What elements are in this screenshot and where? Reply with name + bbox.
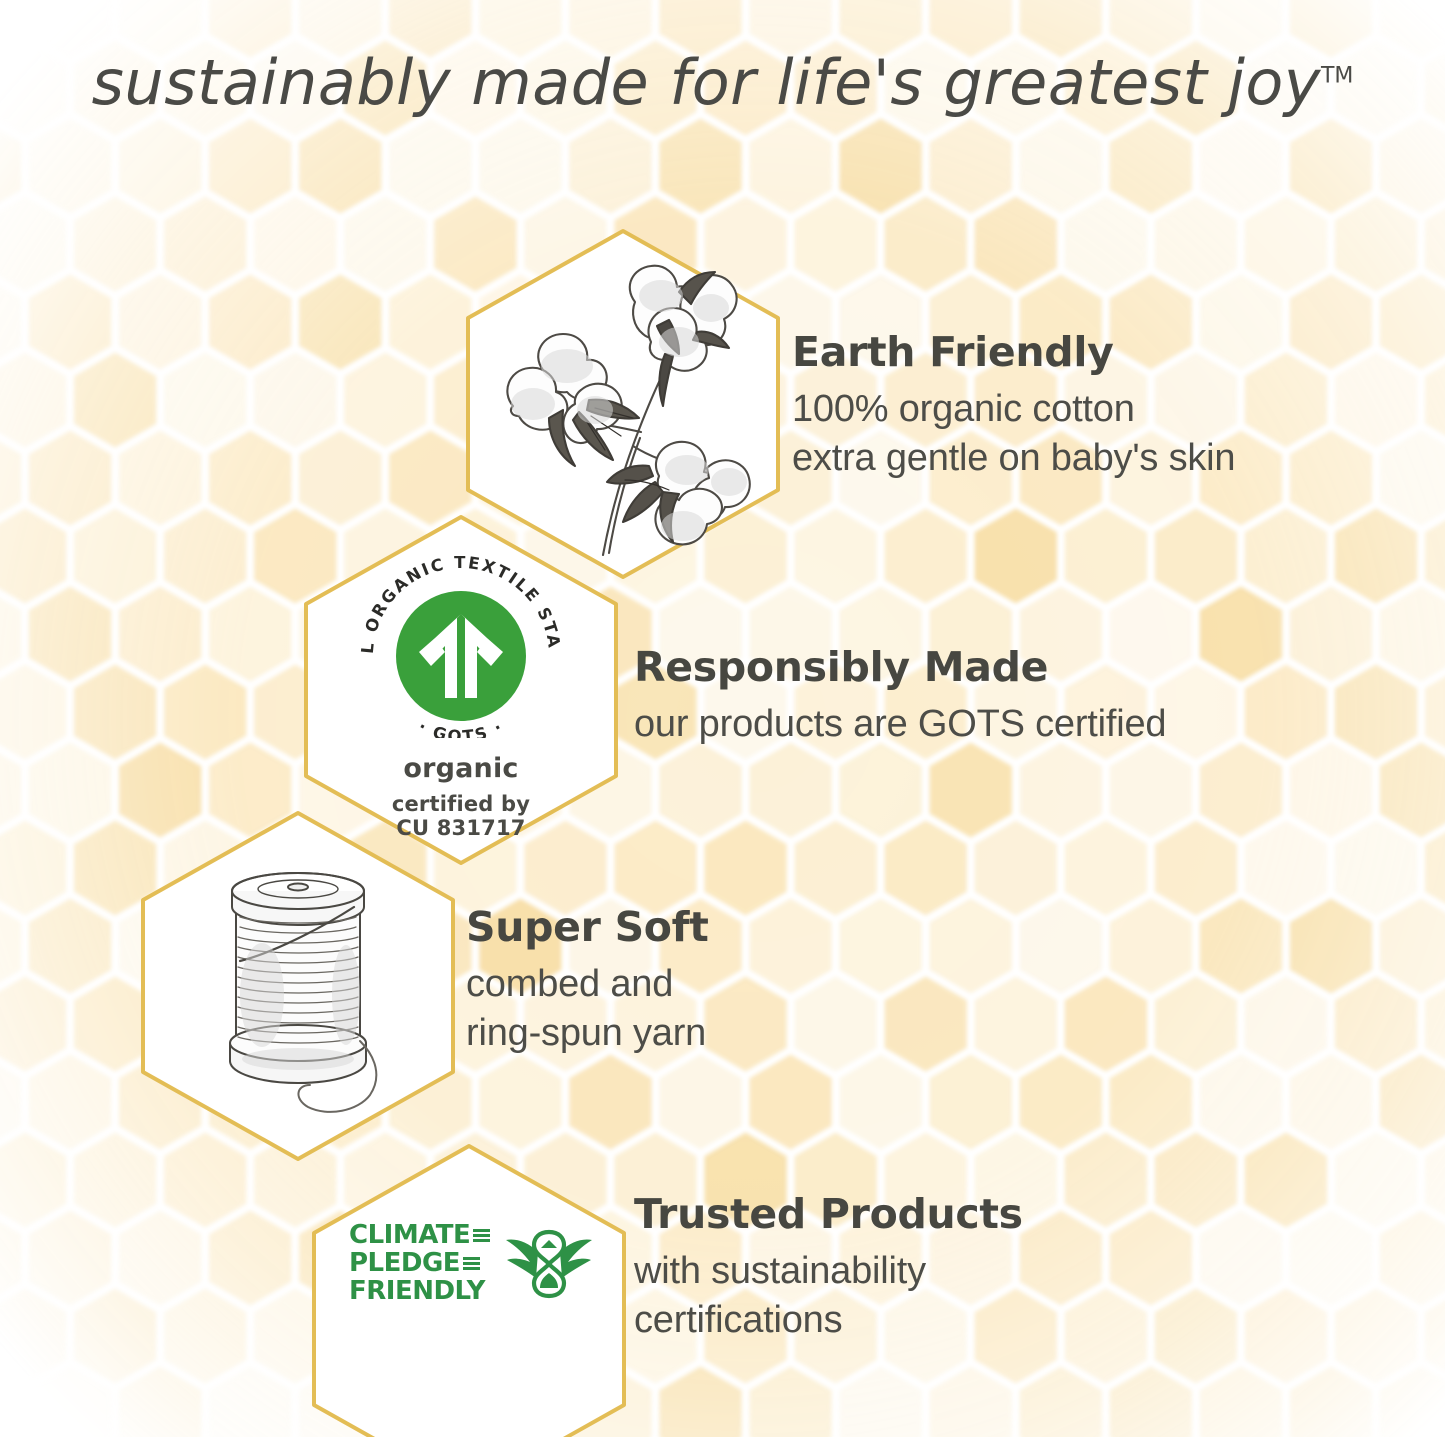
feature-text-earth-friendly: Earth Friendly 100% organic cotton extra… [792,330,1235,483]
feature-line-2: extra gentle on baby's skin [792,434,1235,483]
climate-pledge-wordmark: CLIMATE PLEDGE FRIENDLY [349,1222,490,1305]
climate-pledge-line-2: PLEDGE [349,1250,460,1278]
page-headline: sustainably made for life's greatest joy… [0,46,1445,119]
climate-pledge-line-1: CLIMATE [349,1222,470,1250]
headline-text: sustainably made for life's greatest joy [92,46,1321,119]
feature-text-responsibly-made: Responsibly Made our products are GOTS c… [634,645,1166,749]
winged-hourglass-icon [506,1226,592,1302]
climate-pledge-line-3: FRIENDLY [349,1278,485,1306]
trademark-symbol: TM [1321,63,1353,88]
thread-spool-icon [176,845,420,1136]
feature-text-trusted-products: Trusted Products with sustainability cer… [634,1192,1023,1345]
feature-title: Super Soft [466,905,709,949]
gots-logo-icon: GLOBAL ORGANIC TEXTILE STANDARD · GOTS · [339,552,583,738]
feature-title: Earth Friendly [792,330,1235,374]
feature-line-1: 100% organic cotton [792,385,1235,434]
feature-title: Responsibly Made [634,645,1166,689]
feature-text-super-soft: Super Soft combed and ring-spun yarn [466,905,709,1058]
gots-certificate-id: CU 831717 [339,816,583,840]
gots-certified-by-label: certified by [339,792,583,816]
feature-line-2: ring-spun yarn [466,1009,709,1058]
feature-line-1: combed and [466,960,709,1009]
cotton-branch-icon [483,250,765,565]
infographic-canvas: sustainably made for life's greatest joy… [0,0,1445,1437]
bars-icon [473,1229,490,1242]
climate-pledge-friendly-badge: CLIMATE PLEDGE FRIENDLY [349,1222,592,1305]
feature-line-1: with sustainability [634,1247,1023,1296]
gots-certification-badge: GLOBAL ORGANIC TEXTILE STANDARD · GOTS ·… [339,552,583,841]
bars-icon [463,1257,480,1270]
feature-line-2: certifications [634,1296,1023,1345]
feature-title: Trusted Products [634,1192,1023,1236]
gots-organic-label: organic [339,753,583,784]
feature-line-1: our products are GOTS certified [634,700,1166,749]
